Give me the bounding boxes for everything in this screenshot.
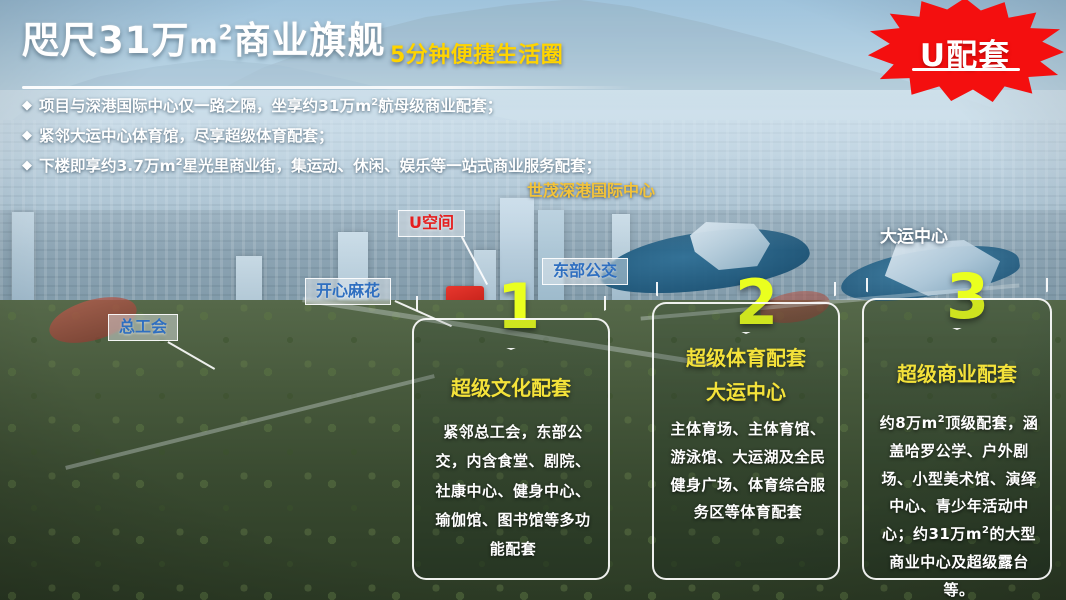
bullet-text: 下楼即享约3.7万m2星光里商业街，集运动、休闲、娱乐等一站式商业服务配套； (39, 158, 601, 175)
page-title: 咫尺31万m2商业旗舰 (22, 22, 386, 59)
map-tag-universiade-center[interactable]: 大运中心 (880, 228, 948, 248)
page-subtitle: 5分钟便捷生活圈 (390, 37, 563, 69)
page-title-unit: m (190, 29, 219, 60)
page-title-superscript: 2 (219, 21, 234, 45)
map-tag-uspace[interactable]: U空间 (398, 210, 465, 237)
map-tag-kaixinmahua[interactable]: 开心麻花 (305, 278, 391, 305)
bullet-list: ◆ 项目与深港国际中心仅一路之隔，坐享约31万m2航母级商业配套； ◆ 紧邻大运… (22, 98, 662, 188)
card-body-2: 主体育场、主体育馆、游泳馆、大运湖及全民健身广场、体育综合服务区等体育配套 (666, 416, 830, 527)
bullet-item: ◆ 紧邻大运中心体育馆，尽享超级体育配套； (22, 128, 662, 145)
title-divider (22, 86, 632, 89)
card-title-2: 超级体育配套 (654, 346, 838, 371)
page-title-suffix: 商业旗舰 (234, 19, 386, 62)
page-title-prefix: 咫尺31万 (22, 19, 190, 62)
card-body-3: 约8万m2顶级配套，涵盖哈罗公学、户外剧场、小型美术馆、演绎中心、青少年活动中心… (878, 410, 1040, 600)
card-subtitle-2: 大运中心 (654, 380, 838, 405)
bullet-text: 项目与深港国际中心仅一路之隔，坐享约31万m2航母级商业配套； (39, 98, 502, 115)
bullet-item: ◆ 项目与深港国际中心仅一路之隔，坐享约31万m2航母级商业配套； (22, 98, 662, 115)
card-title-3: 超级商业配套 (864, 362, 1050, 387)
diamond-icon: ◆ (22, 98, 32, 114)
card-title-1: 超级文化配套 (414, 376, 608, 401)
bullet-item: ◆ 下楼即享约3.7万m2星光里商业街，集运动、休闲、娱乐等一站式商业服务配套； (22, 158, 662, 175)
diamond-icon: ◆ (22, 158, 32, 174)
badge-underline (912, 68, 1020, 71)
map-tag-shimao-center[interactable]: 世茂深港国际中心 (527, 182, 655, 200)
info-card-1[interactable]: 超级文化配套 紧邻总工会，东部公交，内含食堂、剧院、社康中心、健身中心、瑜伽馆、… (412, 318, 610, 580)
info-card-3[interactable]: 超级商业配套 约8万m2顶级配套，涵盖哈罗公学、户外剧场、小型美术馆、演绎中心、… (862, 298, 1052, 580)
diamond-icon: ◆ (22, 128, 32, 144)
card-body-1: 紧邻总工会，东部公交，内含食堂、剧院、社康中心、健身中心、瑜伽馆、图书馆等多功能… (430, 418, 596, 564)
poster-canvas: 咫尺31万m2商业旗舰 5分钟便捷生活圈 ◆ 项目与深港国际中心仅一路之隔，坐享… (0, 0, 1066, 600)
map-tag-union[interactable]: 总工会 (108, 314, 178, 341)
map-tag-east-transit[interactable]: 东部公交 (542, 258, 628, 285)
bullet-text: 紧邻大运中心体育馆，尽享超级体育配套； (39, 128, 334, 145)
info-card-2[interactable]: 超级体育配套 大运中心 主体育场、主体育馆、游泳馆、大运湖及全民健身广场、体育综… (652, 302, 840, 580)
